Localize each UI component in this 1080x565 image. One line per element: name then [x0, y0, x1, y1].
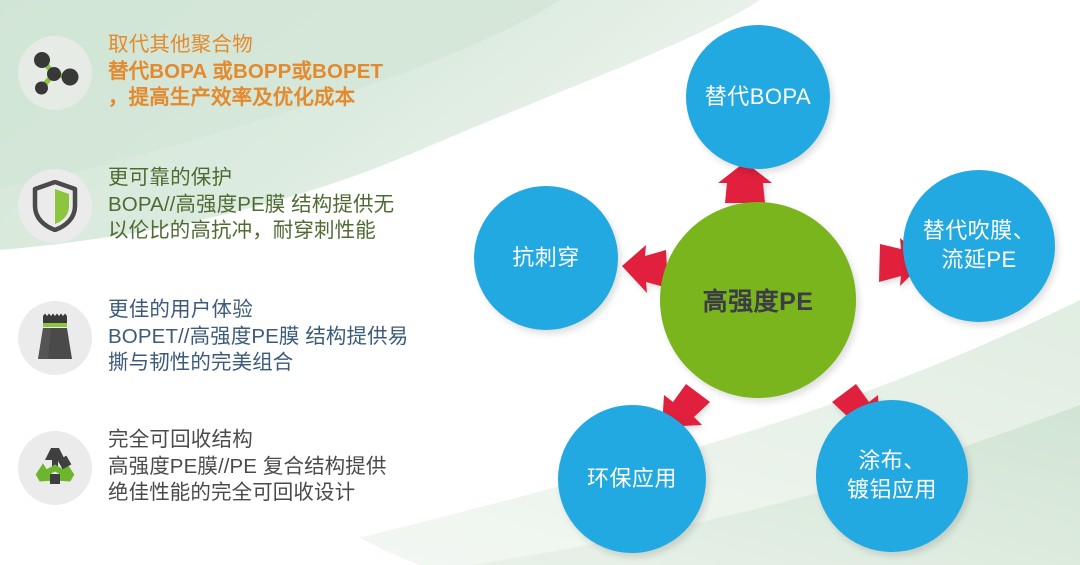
node-label-line-1: 抗刺穿 [512, 244, 580, 273]
feature-text: 更可靠的保护 BOPA//高强度PE膜 结构提供无 以伦比的高抗冲，耐穿刺性能 [108, 165, 500, 245]
shield-icon [18, 169, 92, 243]
hub-and-spoke-diagram: 高强度PE 替代BOPA 替代吹膜、 流延PE 涂布、 镀铝应用 环保应用 [468, 0, 1080, 565]
node-label-line-1: 涂布、 [847, 447, 937, 476]
feature-title: 更佳的用户体验 [108, 297, 500, 324]
feature-line-1: BOPET//高强度PE膜 结构提供易 [108, 324, 500, 351]
feature-title: 更可靠的保护 [108, 165, 500, 192]
node-label-line-1: 替代BOPA [705, 83, 812, 112]
recycle-icon [18, 431, 92, 505]
feature-line-1: BOPA//高强度PE膜 结构提供无 [108, 192, 500, 219]
feature-text: 完全可回收结构 高强度PE膜//PE 复合结构提供 绝佳性能的完全可回收设计 [108, 427, 500, 507]
feature-list: 取代其他聚合物 替代BOPA 或BOPP或BOPET ，提高生产效率及优化成本 … [0, 22, 500, 547]
node-replace-blown-cast-pe[interactable]: 替代吹膜、 流延PE [903, 170, 1055, 322]
node-center-high-strength-pe[interactable]: 高强度PE [660, 202, 856, 398]
feature-line-1: 高强度PE膜//PE 复合结构提供 [108, 454, 500, 481]
pouch-icon [18, 301, 92, 375]
feature-text: 更佳的用户体验 BOPET//高强度PE膜 结构提供易 撕与韧性的完美组合 [108, 297, 500, 377]
feature-item-better-protection[interactable]: 更可靠的保护 BOPA//高强度PE膜 结构提供无 以伦比的高抗冲，耐穿刺性能 [0, 165, 500, 245]
node-label-line-2: 镀铝应用 [847, 476, 937, 505]
node-coating-metallizing[interactable]: 涂布、 镀铝应用 [816, 400, 968, 552]
node-label-line-2: 流延PE [923, 246, 1036, 275]
node-eco-application[interactable]: 环保应用 [558, 405, 706, 553]
feature-title: 取代其他聚合物 [108, 32, 500, 59]
node-replace-bopa[interactable]: 替代BOPA [686, 25, 830, 169]
node-label-line-1: 环保应用 [587, 465, 677, 494]
feature-text: 取代其他聚合物 替代BOPA 或BOPP或BOPET ，提高生产效率及优化成本 [108, 32, 500, 112]
feature-line-2: 绝佳性能的完全可回收设计 [108, 480, 500, 507]
node-center-label: 高强度PE [703, 282, 814, 318]
molecule-icon [18, 36, 92, 110]
node-label-line-1: 替代吹膜、 [923, 217, 1036, 246]
slide-canvas: 取代其他聚合物 替代BOPA 或BOPP或BOPET ，提高生产效率及优化成本 … [0, 0, 1080, 565]
node-puncture-resistance[interactable]: 抗刺穿 [474, 186, 618, 330]
feature-title: 完全可回收结构 [108, 427, 500, 454]
feature-line-2: 撕与韧性的完美组合 [108, 350, 500, 377]
feature-item-user-experience[interactable]: 更佳的用户体验 BOPET//高强度PE膜 结构提供易 撕与韧性的完美组合 [0, 297, 500, 377]
feature-line-2: ，提高生产效率及优化成本 [108, 85, 500, 112]
feature-line-1: 替代BOPA 或BOPP或BOPET [108, 59, 500, 86]
feature-item-fully-recyclable[interactable]: 完全可回收结构 高强度PE膜//PE 复合结构提供 绝佳性能的完全可回收设计 [0, 427, 500, 507]
feature-line-2: 以伦比的高抗冲，耐穿刺性能 [108, 218, 500, 245]
feature-item-replace-polymers[interactable]: 取代其他聚合物 替代BOPA 或BOPP或BOPET ，提高生产效率及优化成本 [0, 32, 500, 112]
